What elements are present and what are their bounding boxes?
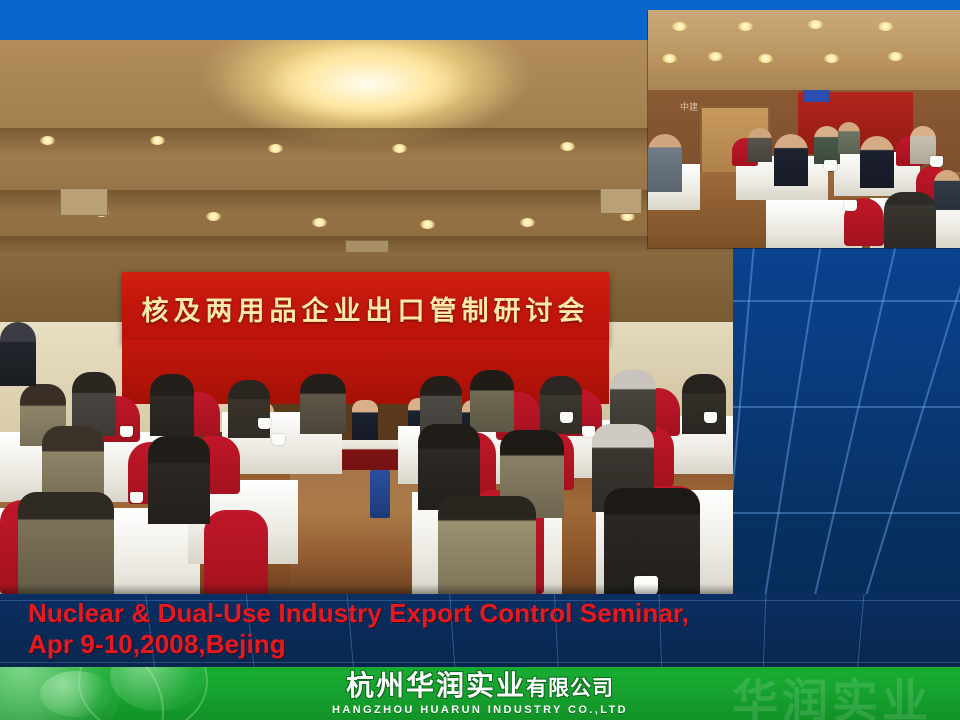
banner-text: 核及两用品企业出口管制研讨会 <box>142 289 590 328</box>
company-logo: 杭州华润实业有限公司 HANGZHOU HUARUN INDUSTRY CO.,… <box>0 667 960 720</box>
wall-logo: 中建 <box>680 100 726 112</box>
caption-line-2: Apr 9-10,2008,Bejing <box>28 629 948 660</box>
seminar-caption: Nuclear & Dual-Use Industry Export Contr… <box>28 598 948 660</box>
slide-canvas: 核及两用品企业出口管制研讨会 <box>0 0 960 720</box>
seminar-banner: 核及两用品企业出口管制研讨会 <box>122 272 609 344</box>
company-name-cn-main: 杭州华润实业 <box>346 669 526 702</box>
projector-screen <box>803 90 829 102</box>
chandelier <box>187 44 547 174</box>
company-name-cn-suffix: 有限公司 <box>526 676 614 700</box>
company-footer: 华润实业 杭州华润实业有限公司 HANGZHOU HUARUN INDUSTRY… <box>0 667 960 720</box>
company-name-cn: 杭州华润实业有限公司 <box>346 671 614 703</box>
caption-line-1: Nuclear & Dual-Use Industry Export Contr… <box>28 598 948 629</box>
audience-photo: 中建 <box>648 10 960 248</box>
company-name-en: HANGZHOU HUARUN INDUSTRY CO.,LTD <box>332 704 628 716</box>
conference-hall-photo: 核及两用品企业出口管制研讨会 <box>0 40 733 594</box>
